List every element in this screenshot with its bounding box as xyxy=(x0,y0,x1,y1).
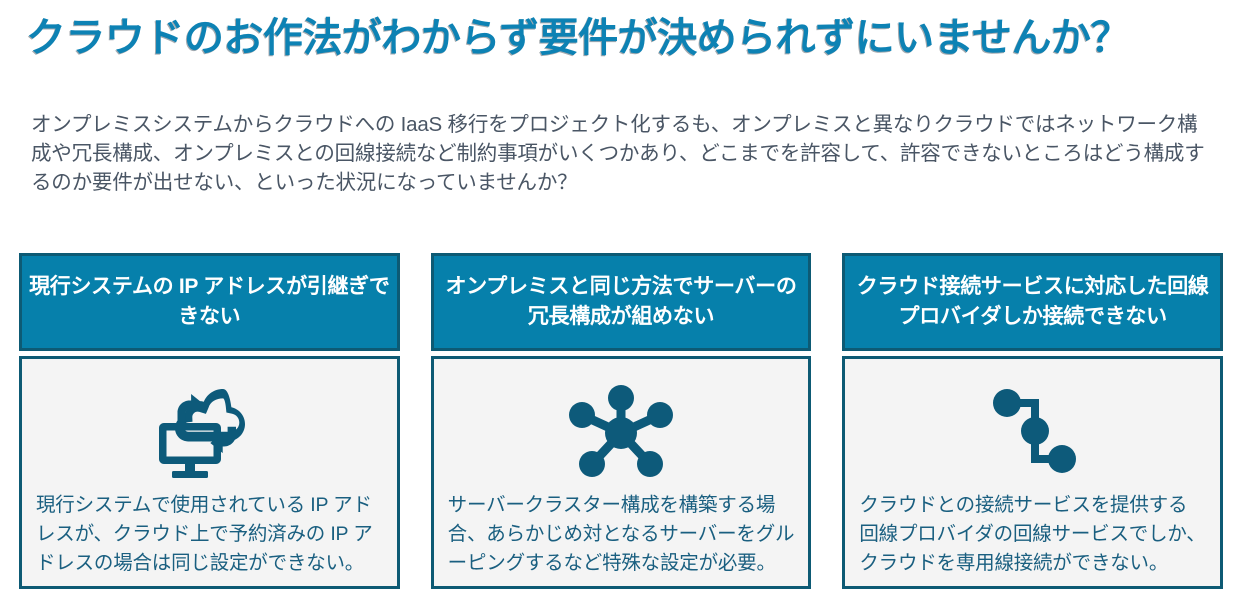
card-header-ip-address: 現行システムの IP アドレスが引継ぎできない xyxy=(19,253,400,351)
issue-card-row: 現行システムの IP アドレスが引継ぎできない xyxy=(19,253,1223,589)
node-branch-icon xyxy=(983,371,1083,491)
card-body-text: クラウドとの接続サービスを提供する回線プロバイダの回線サービスでしか、クラウドを… xyxy=(845,491,1220,586)
card-body-text: サーバークラスター構成を構築する場合、あらかじめ対となるサーバーをグルーピングす… xyxy=(434,491,809,586)
card-body-server-redundancy: サーバークラスター構成を構築する場合、あらかじめ対となるサーバーをグルーピングす… xyxy=(431,356,812,589)
lead-paragraph: オンプレミスシステムからクラウドへの IaaS 移行をプロジェクト化するも、オン… xyxy=(31,110,1216,197)
card-body-line-provider: クラウドとの接続サービスを提供する回線プロバイダの回線サービスでしか、クラウドを… xyxy=(842,356,1223,589)
slide-root: クラウドのお作法がわからず要件が決められずにいませんか？ オンプレミスシステムか… xyxy=(0,0,1239,600)
card-header-label: オンプレミスと同じ方法でサーバーの冗長構成が組めない xyxy=(440,272,803,332)
issue-card-ip-address: 現行システムの IP アドレスが引継ぎできない xyxy=(19,253,400,589)
cloud-monitor-sync-icon xyxy=(153,371,265,491)
card-header-label: クラウド接続サービスに対応した回線プロバイダしか接続できない xyxy=(851,272,1214,332)
network-hub-icon xyxy=(569,371,673,491)
page-title: クラウドのお作法がわからず要件が決められずにいませんか？ xyxy=(26,12,1226,64)
card-body-ip-address: 現行システムで使用されている IP アドレスが、クラウド上で予約済みの IP ア… xyxy=(19,356,400,589)
card-header-server-redundancy: オンプレミスと同じ方法でサーバーの冗長構成が組めない xyxy=(431,253,812,351)
card-body-text: 現行システムで使用されている IP アドレスが、クラウド上で予約済みの IP ア… xyxy=(22,491,397,586)
issue-card-server-redundancy: オンプレミスと同じ方法でサーバーの冗長構成が組めない xyxy=(431,253,812,589)
card-header-line-provider: クラウド接続サービスに対応した回線プロバイダしか接続できない xyxy=(842,253,1223,351)
card-header-label: 現行システムの IP アドレスが引継ぎできない xyxy=(28,272,391,332)
issue-card-line-provider: クラウド接続サービスに対応した回線プロバイダしか接続できない xyxy=(842,253,1223,589)
